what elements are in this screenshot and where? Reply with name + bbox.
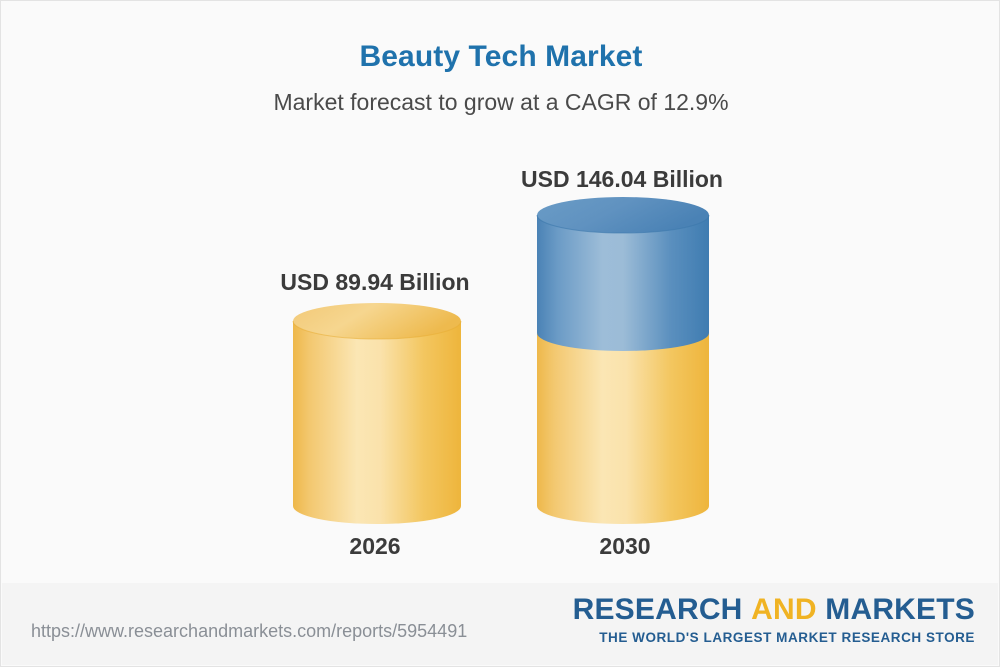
bar-cylinder-2030 xyxy=(528,197,718,526)
logo-word-markets: MARKETS xyxy=(825,593,975,626)
category-label-2026: 2026 xyxy=(295,533,455,560)
cylinder-bar-chart xyxy=(1,1,1000,601)
bar-body-2026 xyxy=(293,321,461,524)
logo-tagline: THE WORLD'S LARGEST MARKET RESEARCH STOR… xyxy=(573,631,975,645)
source-url-link[interactable]: https://www.researchandmarkets.com/repor… xyxy=(31,621,467,642)
bar-segment-growth-2030 xyxy=(537,215,709,351)
logo-word-and: AND xyxy=(751,593,817,626)
chart-plot-area: USD 89.94 Billion USD 146.04 Billion 202… xyxy=(1,1,1000,601)
infographic-canvas: Beauty Tech Market Market forecast to gr… xyxy=(0,0,1000,667)
category-label-2030: 2030 xyxy=(542,533,708,560)
logo-word-research: RESEARCH xyxy=(573,593,743,626)
value-label-2026: USD 89.94 Billion xyxy=(245,269,505,296)
value-label-2030: USD 146.04 Billion xyxy=(492,166,752,193)
bar-segment-base-2030 xyxy=(537,333,709,524)
logo-wordmark: RESEARCH AND MARKETS xyxy=(573,595,975,625)
research-and-markets-logo[interactable]: RESEARCH AND MARKETS THE WORLD'S LARGEST… xyxy=(573,595,975,645)
bar-cylinder-2026 xyxy=(285,303,469,526)
